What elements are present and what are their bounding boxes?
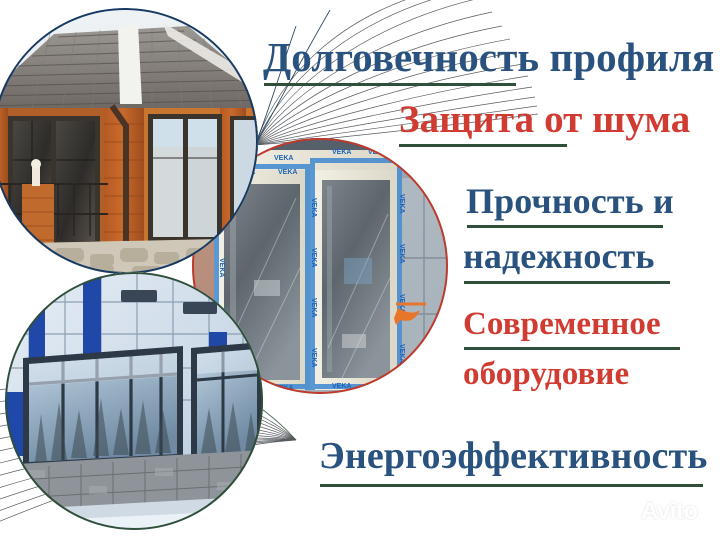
avito-watermark-text: Avito xyxy=(641,500,698,524)
svg-text:VEKA: VEKA xyxy=(278,169,297,176)
headline-durability: Долговечность профиля xyxy=(263,37,714,78)
headline-underline-2 xyxy=(399,144,567,147)
svg-text:VEKA: VEKA xyxy=(310,198,317,217)
svg-text:VEKA: VEKA xyxy=(274,385,293,392)
svg-text:VEKA: VEKA xyxy=(398,244,405,263)
svg-text:VEKA: VEKA xyxy=(398,194,405,213)
svg-text:VEKA: VEKA xyxy=(310,298,317,317)
headline-strength: Прочность и xyxy=(466,183,674,219)
headline-noise-protection: Защита от шума xyxy=(399,100,690,139)
svg-text:VEKA: VEKA xyxy=(332,149,351,156)
headline-reliability: надежность xyxy=(463,238,654,274)
avito-watermark: Avito xyxy=(611,500,698,524)
poster-canvas: VEKAVEKA VEKAVEKA VEKAVEKA VEKA VEKA VEK… xyxy=(0,0,720,540)
wooden-house-illustration xyxy=(0,8,258,274)
headline-underline-6 xyxy=(320,484,703,487)
headline-equipment: оборудовие xyxy=(463,358,629,391)
svg-text:VEKA: VEKA xyxy=(368,149,387,156)
svg-text:VEKA: VEKA xyxy=(310,248,317,267)
headline-underline-3 xyxy=(467,225,663,228)
headline-modern: Современное xyxy=(463,308,661,341)
svg-text:VEKA: VEKA xyxy=(368,383,387,390)
headline-underline-1 xyxy=(264,83,516,86)
svg-text:VEKA: VEKA xyxy=(310,348,317,367)
photo-modern-facade xyxy=(5,272,263,530)
headline-underline-4 xyxy=(464,281,670,284)
modern-facade-illustration xyxy=(5,272,263,530)
photo-wooden-house xyxy=(0,8,258,274)
svg-text:VEKA: VEKA xyxy=(332,383,351,390)
svg-text:VEKA: VEKA xyxy=(274,155,293,162)
avito-logo-icon xyxy=(611,501,637,523)
headline-underline-5 xyxy=(464,347,680,350)
headline-energy-efficiency: Энергоэффективность xyxy=(319,437,708,475)
svg-text:VEKA: VEKA xyxy=(398,344,405,363)
